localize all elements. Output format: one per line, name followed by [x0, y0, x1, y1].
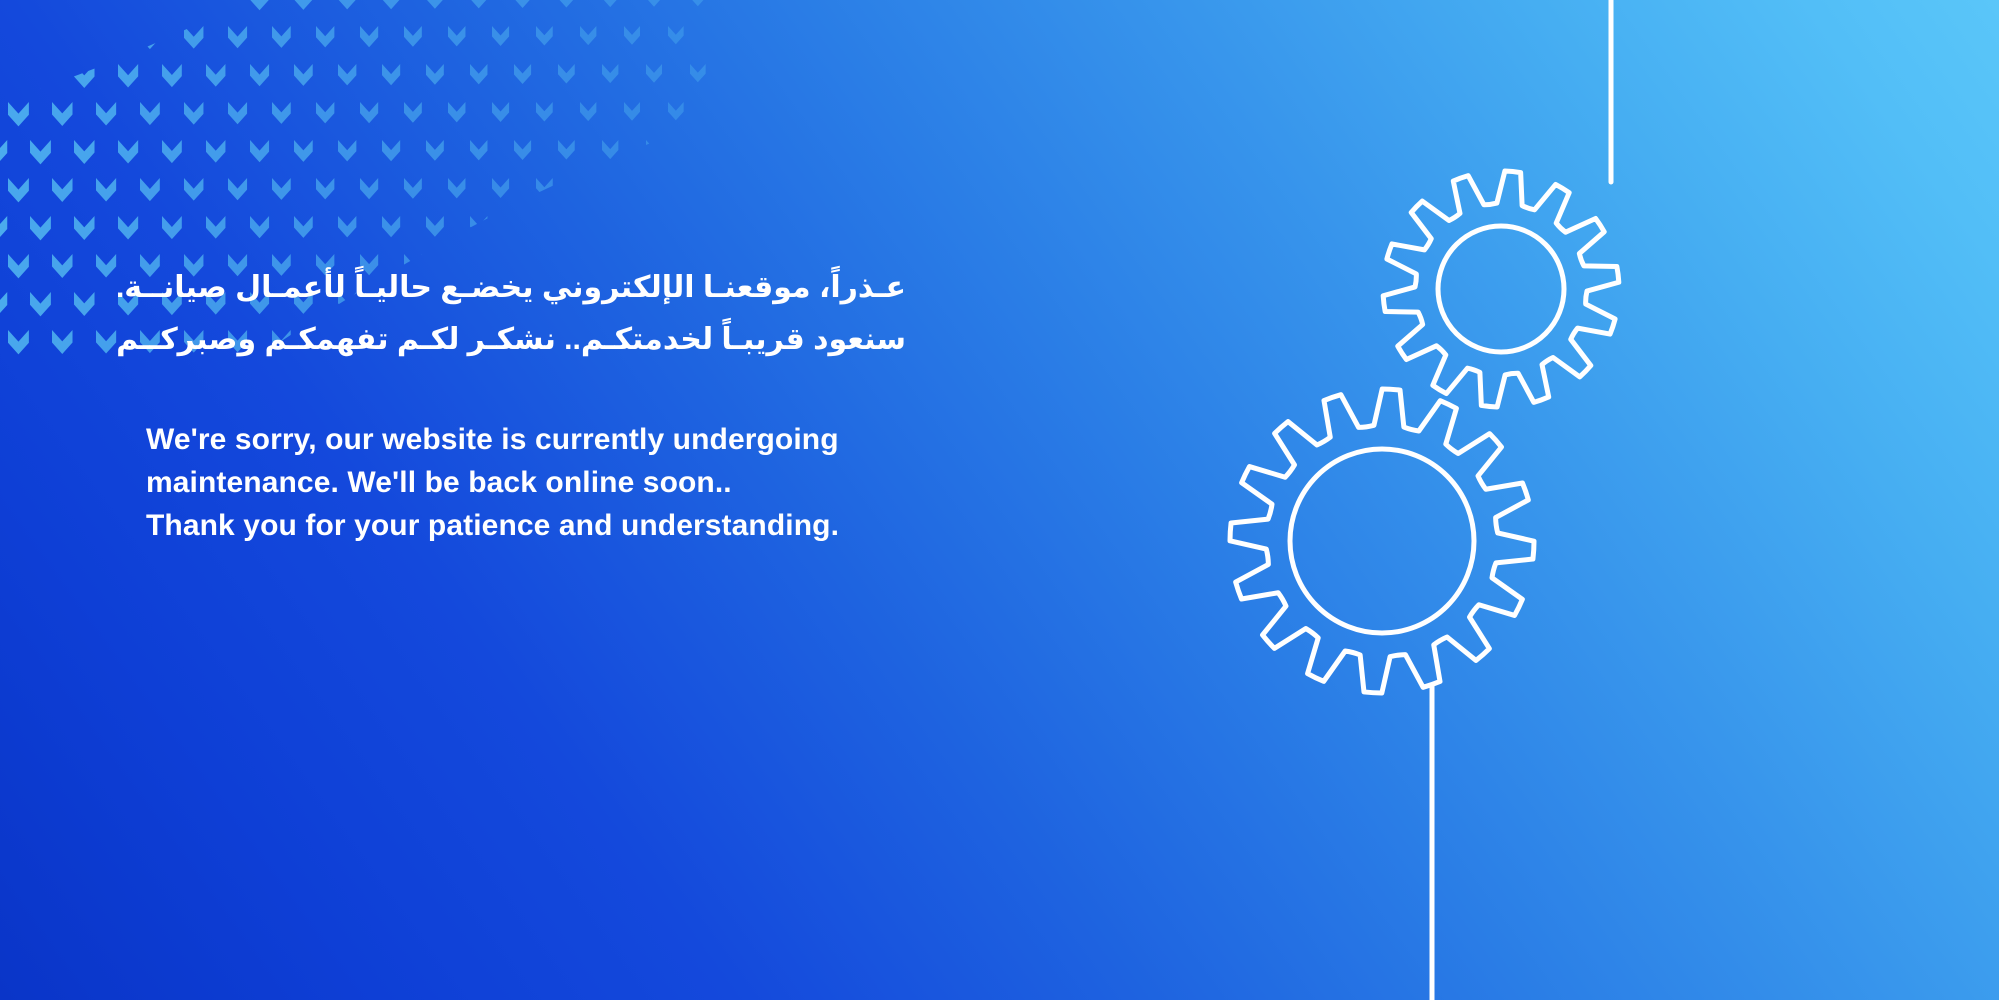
- english-line-2: maintenance. We'll be back online soon..: [146, 461, 906, 504]
- maintenance-page: عـذراً، موقعنـا الإلكتروني يخضـع حاليـاً…: [0, 0, 1999, 1000]
- gear-large-inner-circle: [1290, 449, 1474, 633]
- english-line-3: Thank you for your patience and understa…: [146, 504, 906, 547]
- message-block: عـذراً، موقعنـا الإلكتروني يخضـع حاليـاً…: [146, 262, 906, 547]
- gear-small-inner-circle: [1438, 226, 1564, 352]
- arabic-message: عـذراً، موقعنـا الإلكتروني يخضـع حاليـاً…: [146, 262, 906, 366]
- english-message: We're sorry, our website is currently un…: [146, 418, 906, 547]
- gear-icon-small: [1383, 171, 1619, 407]
- arabic-line-2: سنعود قريبـاً لخدمتكـم.. نشكـر لكـم تفهم…: [146, 314, 906, 366]
- gear-icon-large: [1230, 389, 1534, 693]
- gear-illustration: [1119, 0, 1999, 1000]
- arabic-line-1: عـذراً، موقعنـا الإلكتروني يخضـع حاليـاً…: [146, 262, 906, 314]
- english-line-1: We're sorry, our website is currently un…: [146, 418, 906, 461]
